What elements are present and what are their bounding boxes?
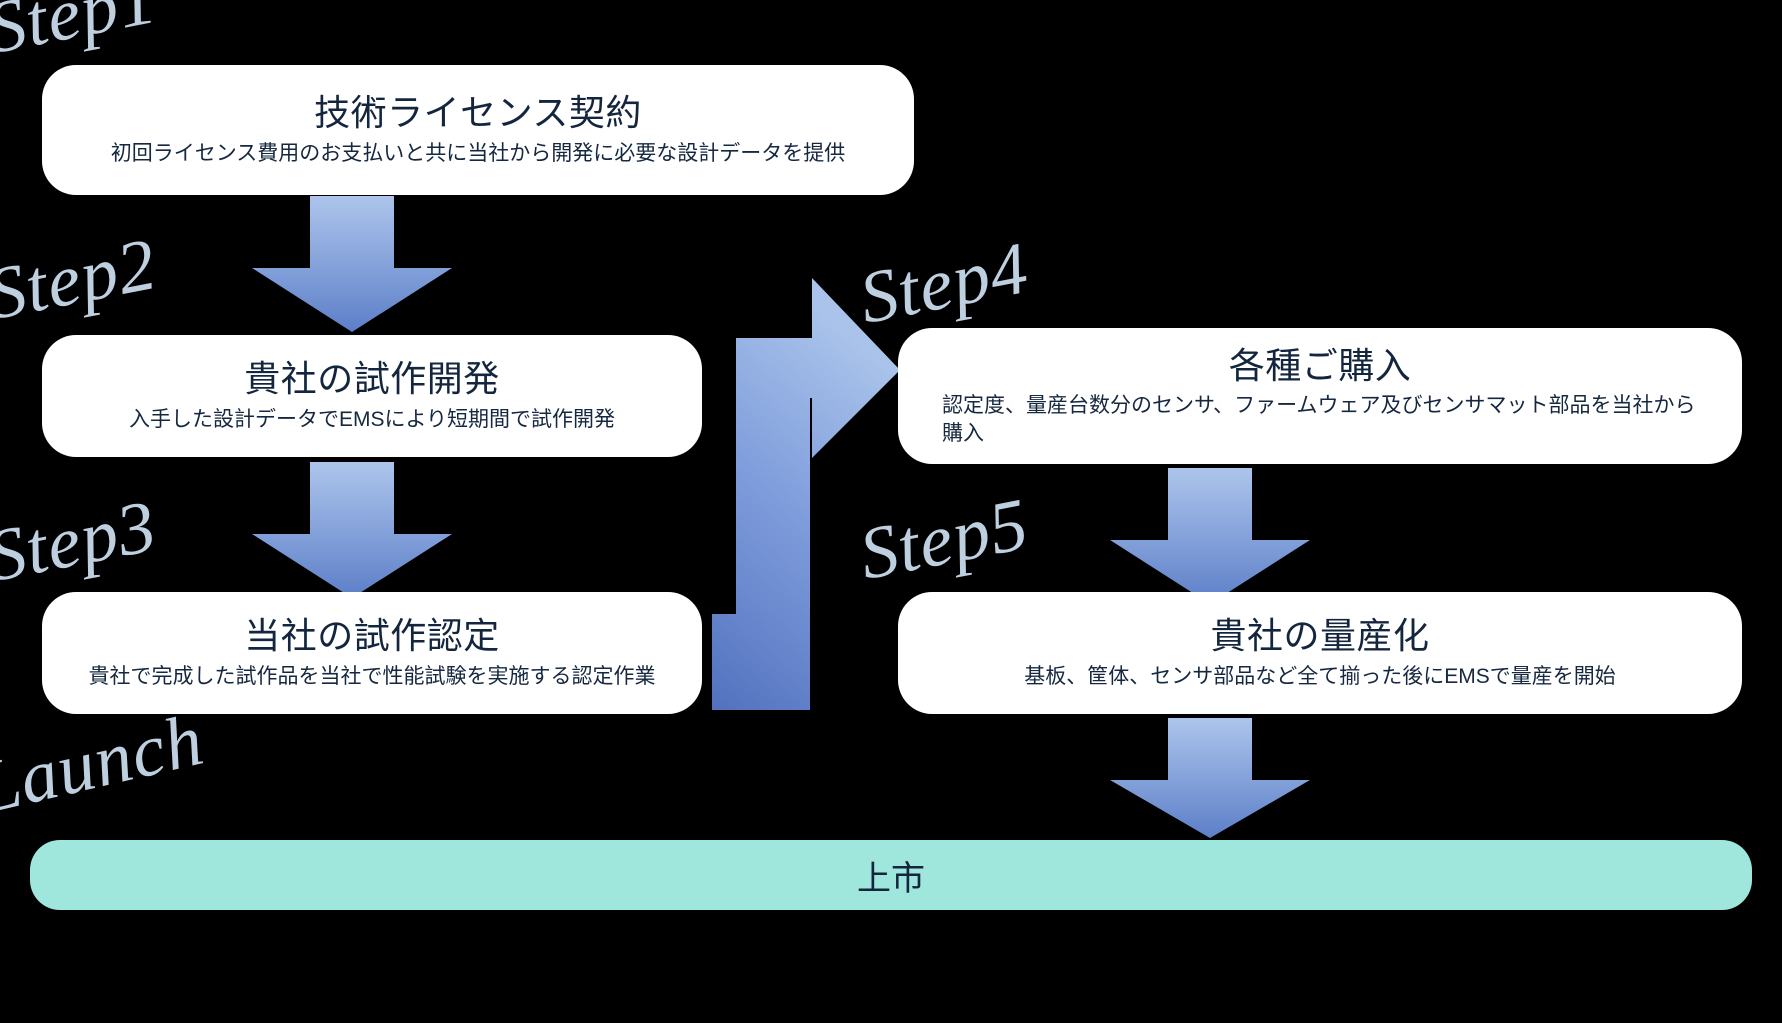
step-card-1-title: 技術ライセンス契約 <box>314 92 642 133</box>
arrow-step5-to-launch <box>1110 718 1310 838</box>
step-card-2-title: 貴社の試作開発 <box>244 358 500 399</box>
arrow-step4-to-step5 <box>1110 468 1310 604</box>
step-card-3-title: 当社の試作認定 <box>244 615 500 656</box>
step-card-1-desc: 初回ライセンス費用のお支払いと共に当社から開発に必要な設計データを提供 <box>111 140 846 168</box>
launch-bar-title: 上市 <box>857 851 925 900</box>
arrow-step3-to-step4 <box>700 278 910 710</box>
step-card-4-desc: 認定度、量産台数分のセンサ、ファームウェア及びセンサマット部品を当社から購入 <box>942 392 1698 447</box>
step-card-3-desc: 貴社で完成した試作品を当社で性能試験を実施する認定作業 <box>89 663 656 691</box>
step-label-1: Step1 <box>0 0 162 66</box>
step-card-2: 貴社の試作開発 入手した設計データでEMSにより短期間で試作開発 <box>42 335 702 457</box>
step-card-5: 貴社の量産化 基板、筐体、センサ部品など全て揃った後にEMSで量産を開始 <box>898 592 1742 714</box>
diagram-canvas: Step1 技術ライセンス契約 初回ライセンス費用のお支払いと共に当社から開発に… <box>0 0 1782 1023</box>
arrow-step1-to-step2 <box>252 196 452 332</box>
step-label-4: Step4 <box>854 231 1034 336</box>
step-card-4: 各種ご購入 認定度、量産台数分のセンサ、ファームウェア及びセンサマット部品を当社… <box>898 328 1742 464</box>
step-card-3: 当社の試作認定 貴社で完成した試作品を当社で性能試験を実施する認定作業 <box>42 592 702 714</box>
step-card-4-title: 各種ご購入 <box>1229 345 1412 386</box>
step-card-1: 技術ライセンス契約 初回ライセンス費用のお支払いと共に当社から開発に必要な設計デ… <box>42 65 914 195</box>
step-card-2-desc: 入手した設計データでEMSにより短期間で試作開発 <box>129 406 615 434</box>
step-card-5-desc: 基板、筐体、センサ部品など全て揃った後にEMSで量産を開始 <box>1024 663 1616 691</box>
step-card-5-title: 貴社の量産化 <box>1210 615 1429 656</box>
launch-bar: 上市 <box>30 840 1752 910</box>
arrow-step2-to-step3 <box>252 462 452 598</box>
launch-label: Launch <box>0 703 210 826</box>
step-label-3: Step3 <box>0 489 162 594</box>
step-label-2: Step2 <box>0 227 162 332</box>
